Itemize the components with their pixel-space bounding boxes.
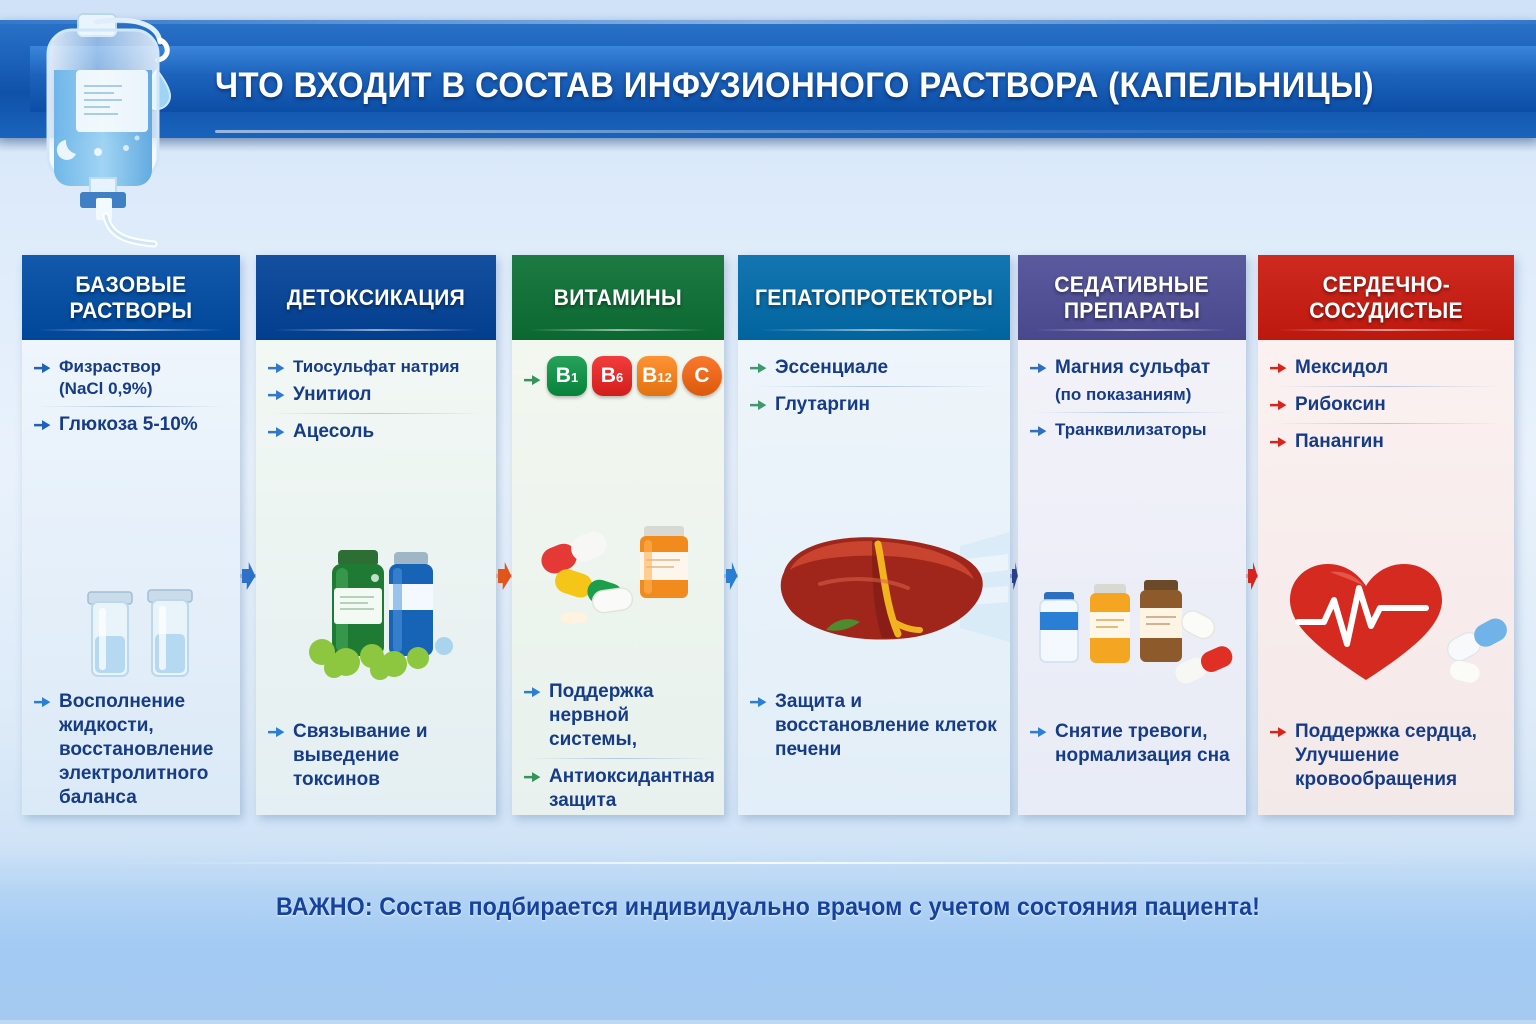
column-title-line: СЕДАТИВНЫЕ (1055, 272, 1210, 298)
benefit-item: Поддержка нервной системы, (524, 680, 714, 752)
header-underline (215, 130, 1445, 133)
column-title-line: БАЗОВЫЕ (75, 272, 186, 298)
benefit-item: Защита и восстановление клеток печени (750, 690, 1000, 762)
column-title-line: РАСТВОРЫ (70, 298, 193, 324)
column-header-hepatoprotectors: ГЕПАТОПРОТЕКТОРЫ (738, 255, 1010, 340)
liver-icon (760, 526, 1000, 661)
list-item-note: (по показаниям) (1055, 384, 1234, 406)
arrow-bullet-icon (524, 770, 542, 788)
column-title-line: ГЕПАТОПРОТЕКТОРЫ (755, 285, 993, 311)
arrow-bullet-icon (1270, 361, 1288, 379)
list-item-label: Тиосульфат натрия (293, 356, 459, 378)
column-body-hepatoprotectors: ЭссенциалеГлутаргинЗащита и восстановлен… (738, 340, 1010, 815)
vitamin-badge-label: C (694, 356, 709, 396)
benefit-item: Восполнение жидкости, восстановление эле… (34, 690, 230, 810)
benefit-divider (526, 758, 712, 759)
arrow-bullet-icon (750, 695, 768, 713)
list-item[interactable]: Рибоксин (1270, 393, 1502, 417)
category-column-detox[interactable]: ДЕТОКСИКАЦИЯТиосульфат натрияУнитиолАцес… (256, 255, 496, 815)
benefit-block: Связывание и выведение токсинов (268, 720, 486, 796)
vitamin-badge-subscript: 12 (657, 358, 671, 398)
capsules-and-pill-bottle-icon (518, 492, 718, 637)
list-item-label: Глюкоза 5-10% (59, 413, 198, 437)
vitamin-badge-label: B (642, 356, 657, 396)
list-item-label: Транквилизаторы (1055, 419, 1207, 441)
benefit-item: Снятие тревоги, нормализация сна (1030, 720, 1236, 768)
arrow-to-sedatives-icon (1010, 560, 1018, 594)
category-column-vitamins[interactable]: ВИТАМИНЫB1B6B12CПоддержка нервной систем… (512, 255, 724, 815)
benefit-block: Поддержка нервной системы,Антиоксидантна… (524, 680, 714, 815)
header-shadow (0, 138, 1536, 152)
column-header-vitamins: ВИТАМИНЫ (512, 255, 724, 340)
category-column-sedatives[interactable]: СЕДАТИВНЫЕПРЕПАРАТЫМагния сульфат(по пок… (1018, 255, 1246, 815)
assorted-medicine-bottles-icon (1024, 562, 1244, 702)
vitamin-badge-b6[interactable]: B6 (592, 356, 632, 396)
arrow-to-cardio-icon (1246, 560, 1258, 594)
list-item-label: Эссенциале (775, 356, 888, 380)
vitamin-badge-label: B (556, 356, 571, 396)
list-item[interactable]: Унитиол (268, 383, 484, 407)
list-item[interactable]: Физраствор (NaCl 0,9%) (34, 356, 228, 400)
arrow-bullet-icon (1270, 398, 1288, 416)
column-body-cardiovascular: МексидолРибоксинПанангинПоддержка сердца… (1258, 340, 1514, 815)
category-column-base-solutions[interactable]: БАЗОВЫЕРАСТВОРЫФизраствор (NaCl 0,9%)Глю… (22, 255, 240, 815)
benefit-block: Восполнение жидкости, восстановление эле… (34, 690, 230, 814)
vitamin-badge-b12[interactable]: B12 (637, 356, 677, 396)
arrow-to-detox-icon (240, 560, 256, 594)
column-title-line: СОСУДИСТЫЕ (1309, 298, 1463, 324)
column-body-vitamins: B1B6B12CПоддержка нервной системы,Антиок… (512, 340, 724, 815)
arrow-bullet-icon (1030, 725, 1048, 743)
column-header-cardiovascular: СЕРДЕЧНО-СОСУДИСТЫЕ (1258, 255, 1514, 340)
benefit-text: Восполнение жидкости, восстановление эле… (59, 690, 230, 810)
benefit-block: Поддержка сердца, Улучшение кровообращен… (1270, 720, 1504, 796)
arrow-bullet-icon (34, 695, 52, 713)
important-note: ВАЖНО: Состав подбирается индивидуально … (54, 893, 1482, 922)
green-blue-bottles-icon (276, 540, 486, 690)
vitamin-badge-b1[interactable]: B1 (547, 356, 587, 396)
two-clear-vials-icon (50, 576, 240, 701)
column-header-base-solutions: БАЗОВЫЕРАСТВОРЫ (22, 255, 240, 340)
item-divider (1272, 423, 1500, 424)
list-item[interactable]: Ацесоль (268, 420, 484, 444)
categories-board: БАЗОВЫЕРАСТВОРЫФизраствор (NaCl 0,9%)Глю… (0, 255, 1536, 815)
benefit-text: Поддержка сердца, Улучшение кровообращен… (1295, 720, 1504, 792)
list-item[interactable]: Эссенциале (750, 356, 998, 380)
footer-separator (110, 862, 1426, 864)
arrow-bullet-icon (268, 388, 286, 406)
vitamin-badge-c[interactable]: C (682, 356, 722, 396)
list-item-label: Панангин (1295, 430, 1384, 454)
arrow-bullet-icon (268, 361, 286, 379)
vitamin-badge-row: B1B6B12C (524, 356, 712, 396)
arrow-bullet-icon (1270, 725, 1288, 743)
column-title-line: ДЕТОКСИКАЦИЯ (287, 285, 465, 311)
category-column-cardiovascular[interactable]: СЕРДЕЧНО-СОСУДИСТЫЕМексидолРибоксинПанан… (1258, 255, 1514, 815)
column-title-line: ПРЕПАРАТЫ (1064, 298, 1200, 324)
benefit-text: Связывание и выведение токсинов (293, 720, 486, 792)
arrow-bullet-icon (750, 398, 768, 416)
arrow-to-hepatoprotectors-icon (724, 560, 738, 594)
category-column-hepatoprotectors[interactable]: ГЕПАТОПРОТЕКТОРЫЭссенциалеГлутаргинЗащит… (738, 255, 1010, 815)
column-body-sedatives: Магния сульфат(по показаниям)Транквилиза… (1018, 340, 1246, 815)
list-item[interactable]: Транквилизаторы (1030, 419, 1234, 442)
list-item[interactable]: Тиосульфат натрия (268, 356, 484, 379)
list-item[interactable]: Магния сульфат (1030, 356, 1234, 380)
page-title: ЧТО ВХОДИТ В СОСТАВ ИНФУЗИОННОГО РАСТВОР… (215, 68, 1399, 103)
arrow-bullet-icon (524, 685, 542, 703)
item-divider (752, 386, 996, 387)
list-item-label: Ацесоль (293, 420, 374, 444)
heart-with-ecg-icon (1274, 556, 1514, 696)
arrow-bullet-icon (268, 725, 286, 743)
list-item-label: Мексидол (1295, 356, 1388, 380)
header-band: ЧТО ВХОДИТ В СОСТАВ ИНФУЗИОННОГО РАСТВОР… (0, 20, 1536, 138)
list-item-label: Магния сульфат (1055, 356, 1210, 380)
arrow-bullet-icon (268, 425, 286, 443)
list-item[interactable]: Глюкоза 5-10% (34, 413, 228, 437)
benefit-text: Защита и восстановление клеток печени (775, 690, 1000, 762)
column-title-line: СЕРДЕЧНО- (1322, 272, 1449, 298)
benefit-text: Поддержка нервной системы, (549, 680, 714, 752)
benefit-item: Антиоксидантная защита (524, 765, 714, 813)
benefit-block: Снятие тревоги, нормализация сна (1030, 720, 1236, 772)
list-item[interactable]: Глутаргин (750, 393, 998, 417)
list-item[interactable]: Панангин (1270, 430, 1502, 454)
benefit-text: Снятие тревоги, нормализация сна (1055, 720, 1236, 768)
list-item-label: Физраствор (NaCl 0,9%) (59, 356, 161, 400)
list-item[interactable]: Мексидол (1270, 356, 1502, 380)
benefit-block: Защита и восстановление клеток печени (750, 690, 1000, 766)
arrow-bullet-icon (34, 361, 52, 379)
arrow-bullet-icon (1270, 435, 1288, 453)
column-header-sedatives: СЕДАТИВНЫЕПРЕПАРАТЫ (1018, 255, 1246, 340)
item-divider (1032, 412, 1232, 413)
item-divider (36, 406, 226, 407)
benefit-item: Связывание и выведение токсинов (268, 720, 486, 792)
iv-drip-bag-icon (18, 8, 218, 268)
list-item-label: Глутаргин (775, 393, 870, 417)
vitamin-badge-subscript: 6 (616, 358, 623, 398)
arrow-bullet-icon (1030, 361, 1048, 379)
column-title-line: ВИТАМИНЫ (554, 285, 682, 311)
item-divider (1272, 386, 1500, 387)
list-item-label: Унитиол (293, 383, 371, 407)
vitamin-badge-label: B (601, 356, 616, 396)
benefit-item: Поддержка сердца, Улучшение кровообращен… (1270, 720, 1504, 792)
vitamin-badge-subscript: 1 (571, 358, 578, 398)
item-divider (270, 413, 482, 414)
arrow-bullet-icon (750, 361, 768, 379)
footer-area (0, 845, 1536, 1020)
arrow-bullet-icon (1030, 424, 1048, 442)
column-header-detox: ДЕТОКСИКАЦИЯ (256, 255, 496, 340)
arrow-bullet-icon (524, 373, 542, 391)
column-body-detox: Тиосульфат натрияУнитиолАцесольСвязывани… (256, 340, 496, 815)
column-body-base-solutions: Физраствор (NaCl 0,9%)Глюкоза 5-10%Воспо… (22, 340, 240, 815)
arrow-bullet-icon (34, 418, 52, 436)
arrow-to-vitamins-icon (496, 560, 512, 594)
benefit-text: Антиоксидантная защита (549, 765, 715, 813)
list-item-label: Рибоксин (1295, 393, 1386, 417)
